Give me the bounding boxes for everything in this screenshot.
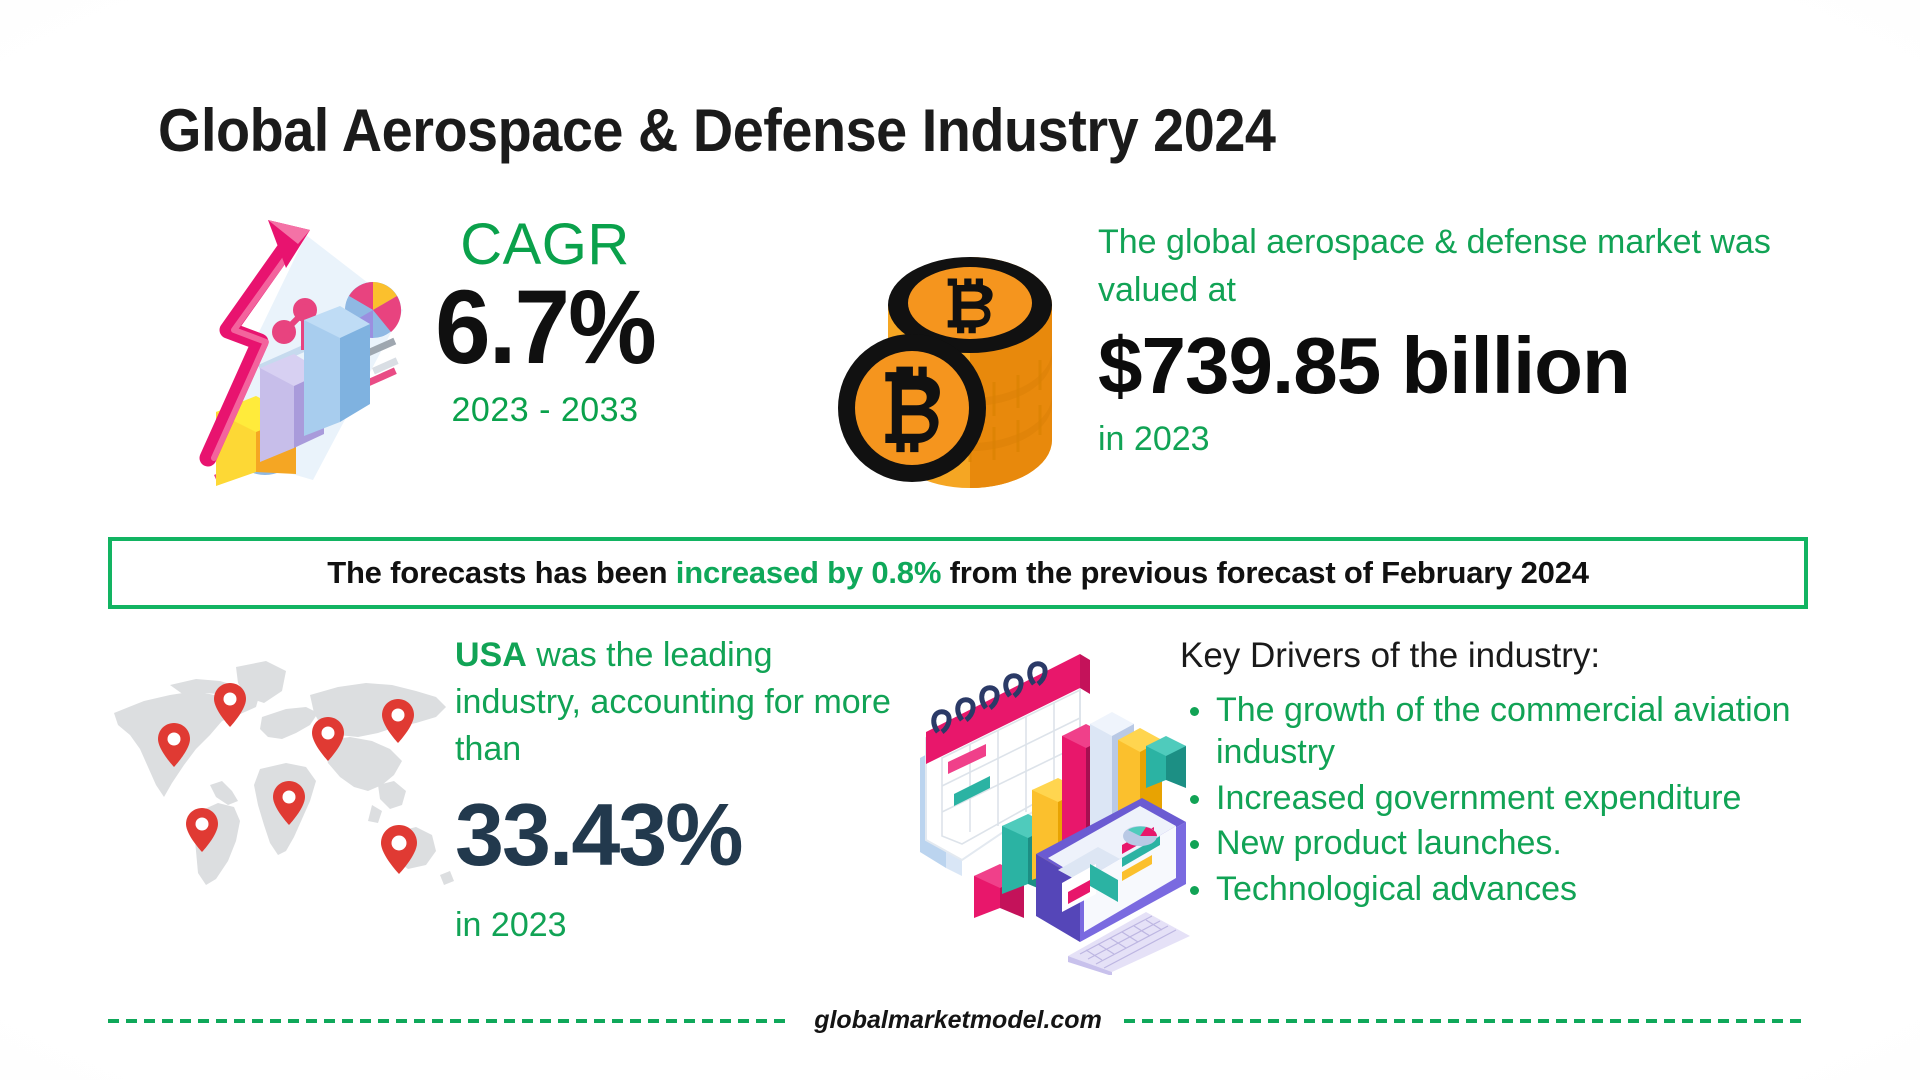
key-drivers-block: Key Drivers of the industry: The growth … bbox=[1180, 636, 1830, 915]
world-map-illustration bbox=[110, 645, 455, 910]
market-year: in 2023 bbox=[1098, 420, 1838, 459]
list-item: Increased government expenditure bbox=[1180, 778, 1830, 820]
banner-highlight-text: increased by 0.8% bbox=[676, 555, 941, 590]
banner-after-text: from the previous forecast of February 2… bbox=[941, 555, 1589, 590]
usa-share-block: USA was the leading industry, accounting… bbox=[455, 632, 895, 945]
banner-before-text: The forecasts has been bbox=[327, 555, 676, 590]
footer-dash-left bbox=[108, 1019, 792, 1023]
forecast-banner: The forecasts has been increased by 0.8%… bbox=[108, 537, 1808, 609]
page-title: Global Aerospace & Defense Industry 2024 bbox=[158, 96, 1275, 165]
key-drivers-list: The growth of the commercial aviation in… bbox=[1180, 690, 1830, 911]
calendar-dashboard-illustration bbox=[890, 640, 1190, 975]
bitcoin-coins-illustration bbox=[820, 190, 1090, 500]
forecast-banner-text: The forecasts has been increased by 0.8%… bbox=[327, 555, 1589, 591]
usa-share-value: 33.43% bbox=[455, 787, 895, 884]
footer-dash-right bbox=[1124, 1019, 1808, 1023]
cagr-value: 6.7% bbox=[379, 274, 712, 381]
market-lead-text: The global aerospace & defense market wa… bbox=[1098, 218, 1838, 315]
footer: globalmarketmodel.com bbox=[108, 1006, 1808, 1035]
usa-share-year: in 2023 bbox=[455, 906, 895, 945]
growth-chart-illustration bbox=[108, 190, 408, 490]
cagr-block: CAGR 6.7% 2023 - 2033 bbox=[370, 215, 720, 430]
list-item: Technological advances bbox=[1180, 869, 1830, 911]
market-value-block: The global aerospace & defense market wa… bbox=[1098, 218, 1838, 459]
footer-site-label: globalmarketmodel.com bbox=[814, 1006, 1102, 1035]
key-drivers-title: Key Drivers of the industry: bbox=[1180, 636, 1830, 676]
usa-emphasis: USA bbox=[455, 636, 527, 674]
market-value: $739.85 billion bbox=[1098, 321, 1838, 411]
list-item: The growth of the commercial aviation in… bbox=[1180, 690, 1830, 774]
cagr-label: CAGR bbox=[370, 215, 720, 274]
list-item: New product launches. bbox=[1180, 823, 1830, 865]
cagr-years: 2023 - 2033 bbox=[370, 391, 720, 430]
usa-lead-text: USA was the leading industry, accounting… bbox=[455, 632, 895, 773]
infographic-canvas: Global Aerospace & Defense Industry 2024 bbox=[0, 0, 1920, 1080]
